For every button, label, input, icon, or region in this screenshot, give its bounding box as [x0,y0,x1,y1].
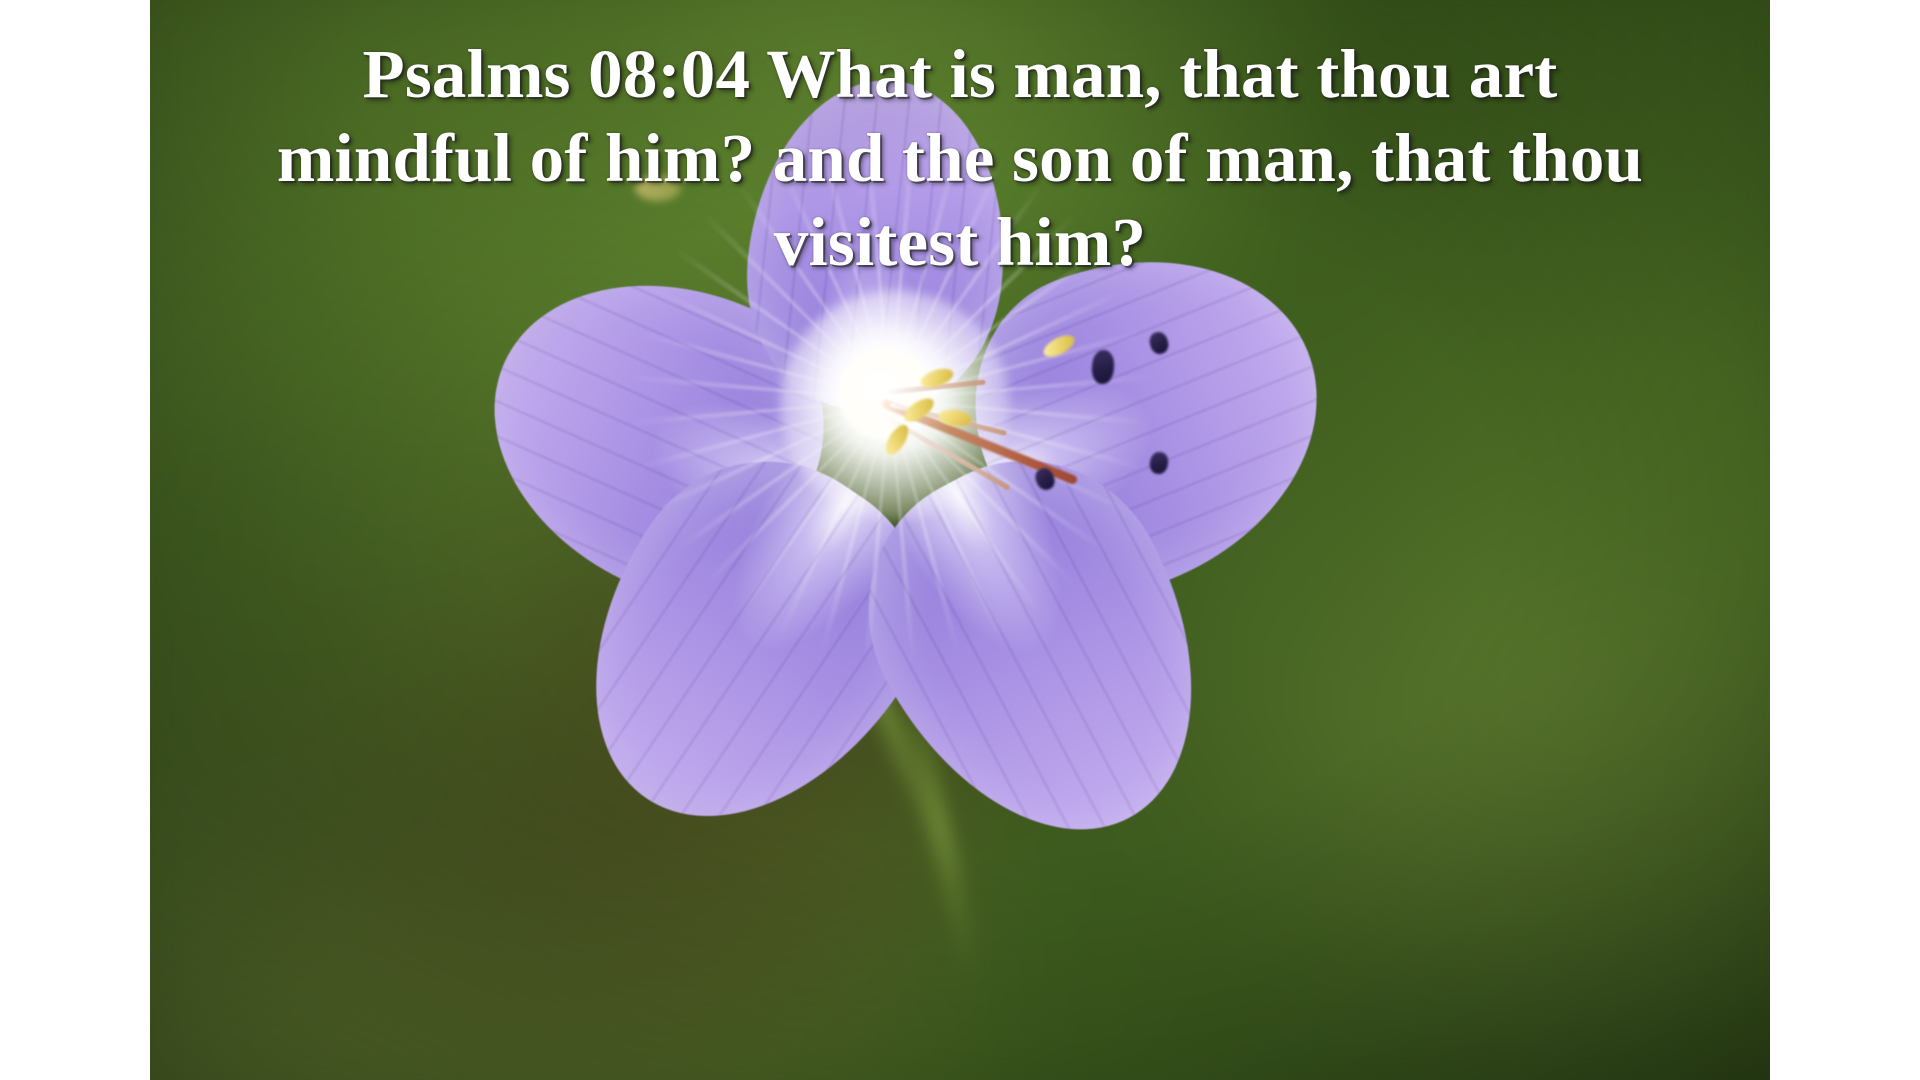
flower-center-core [838,348,930,440]
verse-text: Psalms 08:04 What is man, that thou art … [150,32,1770,284]
scripture-image-page: Psalms 08:04 What is man, that thou art … [0,0,1920,1080]
